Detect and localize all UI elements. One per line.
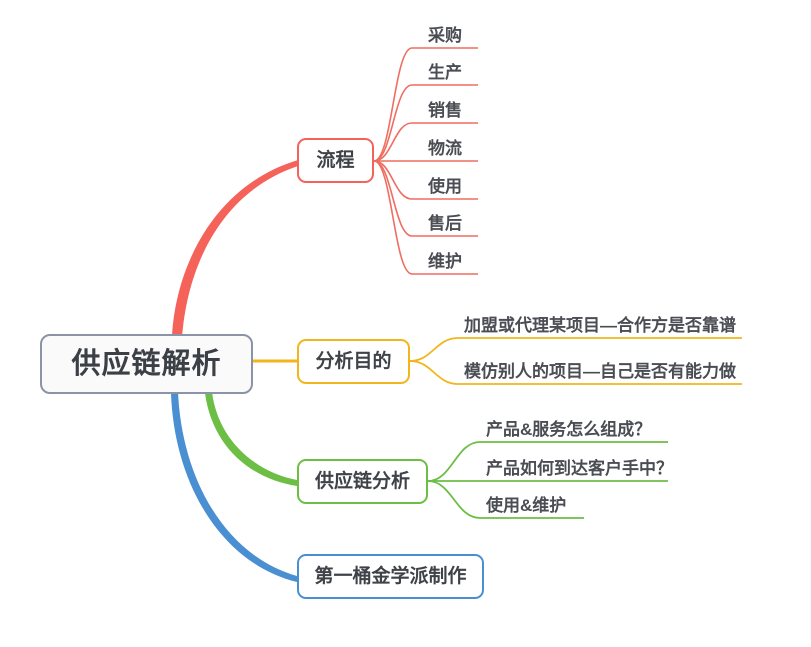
leaf-process-1[interactable]: 生产 <box>412 63 478 85</box>
mindmap-canvas: 供应链解析 流程 分析目的 供应链分析 第一桶金学派制作 采购 生产 销售 物流… <box>0 0 811 647</box>
branch-node-process[interactable]: 流程 <box>297 138 374 183</box>
connector-root-to-supplychain <box>205 392 297 486</box>
branch-node-purpose-label: 分析目的 <box>315 352 391 371</box>
leaf-supplychain-0[interactable]: 产品&服务怎么组成？ <box>486 419 676 442</box>
connector-group-purpose-children <box>410 338 458 384</box>
leaf-purpose-1-label: 模仿别人的项目—自己是否有能力做 <box>464 362 736 382</box>
connector-group-supplychain-children <box>428 442 480 518</box>
leaf-supplychain-1[interactable]: 产品如何到达客户手中？ <box>486 458 676 481</box>
root-node-label: 供应链解析 <box>71 350 221 379</box>
leaf-process-3[interactable]: 物流 <box>412 139 478 161</box>
leaf-process-2-label: 销售 <box>428 101 462 121</box>
branch-node-production[interactable]: 第一桶金学派制作 <box>297 554 484 599</box>
leaf-process-3-label: 物流 <box>428 139 462 159</box>
connector-root-to-process <box>172 160 298 338</box>
leaf-process-6-label: 维护 <box>428 252 462 272</box>
branch-node-process-label: 流程 <box>316 151 354 170</box>
connector-root-to-production <box>171 392 297 582</box>
leaf-process-4[interactable]: 使用 <box>412 177 478 199</box>
branch-node-purpose[interactable]: 分析目的 <box>297 339 410 384</box>
branch-node-production-label: 第一桶金学派制作 <box>314 567 466 586</box>
leaf-process-0-label: 采购 <box>428 26 462 46</box>
leaf-process-2[interactable]: 销售 <box>412 101 478 123</box>
leaf-process-5-label: 售后 <box>428 214 462 234</box>
leaf-process-4-label: 使用 <box>428 177 462 197</box>
connector-group-process-children <box>374 48 412 274</box>
leaf-process-5[interactable]: 售后 <box>412 214 478 236</box>
leaf-purpose-0[interactable]: 加盟或代理某项目—合作方是否靠谱 <box>464 315 744 338</box>
leaf-supplychain-0-label: 产品&服务怎么组成？ <box>486 420 651 440</box>
leaf-supplychain-2-label: 使用&维护 <box>486 496 566 516</box>
branch-node-supplychain-label: 供应链分析 <box>315 472 410 491</box>
root-node[interactable]: 供应链解析 <box>40 334 253 394</box>
leaf-process-1-label: 生产 <box>428 63 462 83</box>
leaf-purpose-1[interactable]: 模仿别人的项目—自己是否有能力做 <box>464 361 744 384</box>
leaf-process-6[interactable]: 维护 <box>412 252 478 274</box>
leaf-process-0[interactable]: 采购 <box>412 26 478 48</box>
branch-node-supplychain[interactable]: 供应链分析 <box>297 459 428 504</box>
leaf-supplychain-1-label: 产品如何到达客户手中？ <box>486 459 673 479</box>
leaf-supplychain-2[interactable]: 使用&维护 <box>486 495 676 518</box>
leaf-purpose-0-label: 加盟或代理某项目—合作方是否靠谱 <box>464 316 736 336</box>
